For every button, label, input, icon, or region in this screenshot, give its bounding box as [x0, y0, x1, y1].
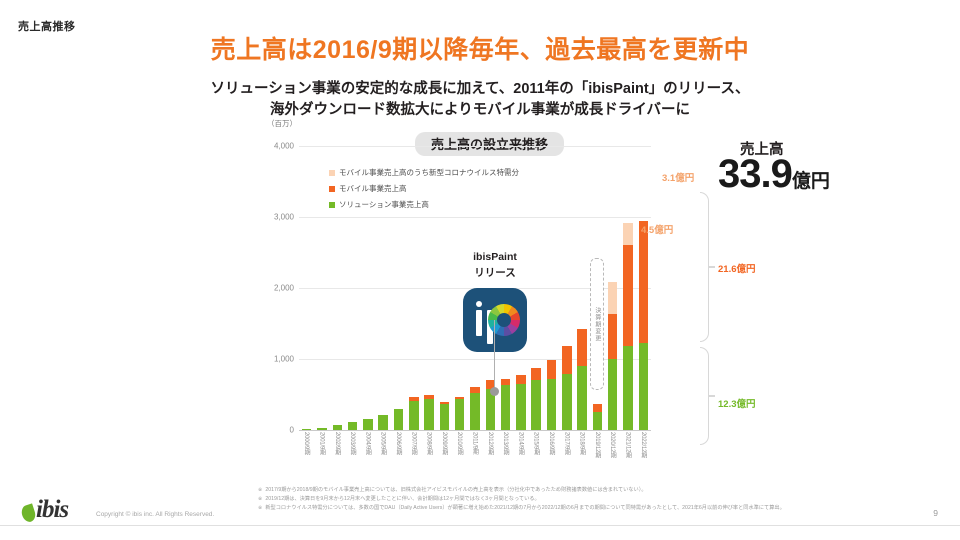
callout-solution-total: 12.3億円: [718, 396, 756, 410]
ibispaint-color-wheel-icon: [488, 304, 520, 336]
y-axis-tick-label: 4,000: [274, 142, 294, 151]
ibispaint-label-line-2: リリース: [443, 266, 547, 282]
bar-segment-mobile: [593, 404, 602, 412]
fiscal-period-change-note: 決算期変更: [590, 258, 604, 390]
bar-column[interactable]: [562, 346, 571, 430]
ibispaint-callout: ibisPaint リリース: [443, 250, 547, 352]
x-axis-tick-label: 2013/9期: [501, 432, 510, 455]
y-axis-tick-label: 1,000: [274, 355, 294, 364]
axis-baseline: [299, 430, 651, 431]
footnote-text: 2019/12期は、決算日を9月末から12月末へ変更したことに伴い、会計期間は1…: [265, 495, 958, 503]
ibis-logo: ibis: [22, 498, 68, 522]
bar-column[interactable]: [455, 397, 464, 430]
bar-segment-mobile: [639, 221, 648, 342]
bar-column[interactable]: [516, 375, 525, 430]
bar-column[interactable]: [639, 221, 648, 430]
footnotes: ※ 2017/9期から2018/9期のモバイル事業売上高については、旧株式会社ア…: [258, 486, 958, 513]
x-axis-tick-label: 2007/9期: [409, 432, 418, 455]
bar-column[interactable]: [317, 428, 326, 430]
bar-column[interactable]: [577, 329, 586, 430]
bar-segment-mobile: [547, 360, 556, 378]
y-axis-unit-label: （百万）: [267, 118, 297, 129]
slide-sub-title: ソリューション事業の安定的な成長に加えて、2011年の「ibisPaint」のリ…: [0, 79, 960, 121]
bar-column[interactable]: [593, 404, 602, 430]
x-axis-tick-label: 2002/9期: [333, 432, 342, 455]
footnote-mark: ※: [258, 486, 262, 494]
footnote-item: ※ 2017/9期から2018/9期のモバイル事業売上高については、旧株式会社ア…: [258, 486, 958, 494]
x-axis-tick-label: 2005/9期: [379, 432, 388, 455]
bar-column[interactable]: [348, 422, 357, 430]
x-axis-tick-label: 2012/9期: [486, 432, 495, 455]
x-axis-tick-label: 2014/9期: [516, 432, 525, 455]
bar-segment-solution: [455, 399, 464, 430]
bar-column[interactable]: [409, 397, 418, 430]
footnote-mark: ※: [258, 504, 262, 512]
x-axis-tick-label: 2018/9期: [578, 432, 587, 455]
bar-segment-solution: [531, 380, 540, 430]
x-axis-tick-label: 2010/9期: [455, 432, 464, 455]
bar-segment-mobile: [623, 245, 632, 347]
bar-segment-solution: [516, 384, 525, 430]
footnote-mark: ※: [258, 495, 262, 503]
ibispaint-i-dot-icon: [476, 301, 482, 307]
bar-segment-solution: [639, 343, 648, 430]
bar-segment-solution: [623, 346, 632, 430]
y-axis-tick-label: 2,000: [274, 284, 294, 293]
logo-wordmark: ibis: [36, 498, 68, 522]
ibispaint-leader-dot-icon: [490, 387, 499, 396]
x-axis-tick-label: 2019/12期: [593, 432, 602, 458]
bar-segment-solution: [302, 429, 311, 430]
bar-segment-solution: [547, 379, 556, 430]
bar-segment-covid: [608, 282, 617, 314]
x-axis-tick-label: 2022/12期: [639, 432, 648, 458]
footnote-item: ※ 新型コロナウイルス特需分については、多数の国でDAU（Daily Activ…: [258, 504, 958, 512]
y-axis: 01,0002,0003,0004,000: [255, 146, 297, 430]
bar-column[interactable]: [302, 429, 311, 430]
bar-segment-solution: [333, 425, 342, 430]
x-axis-tick-label: 2004/9期: [363, 432, 372, 455]
sub-title-line-1: ソリューション事業の安定的な成長に加えて、2011年の「ibisPaint」のリ…: [0, 79, 960, 100]
bar-segment-solution: [577, 366, 586, 430]
bar-column[interactable]: [394, 409, 403, 430]
x-axis-tick-label: 2011/9期: [471, 432, 480, 455]
brace-solution-tick: [708, 395, 715, 397]
bar-column[interactable]: [363, 419, 372, 430]
bar-segment-solution: [440, 404, 449, 430]
x-axis-tick-label: 2003/9期: [348, 432, 357, 455]
y-axis-tick-label: 3,000: [274, 213, 294, 222]
bar-segment-solution: [424, 399, 433, 430]
bar-segment-solution: [348, 422, 357, 430]
x-axis-labels: 2000/9期2001/9期2002/9期2003/9期2004/9期2005/…: [299, 432, 651, 480]
bar-column[interactable]: [424, 395, 433, 430]
highlight-value-unit: 億円: [792, 171, 830, 192]
x-axis-tick-label: 2006/9期: [394, 432, 403, 455]
bar-segment-covid: [623, 223, 632, 245]
bar-segment-solution: [317, 428, 326, 430]
bar-column[interactable]: [333, 425, 342, 430]
footer-divider: [0, 525, 960, 526]
x-axis-tick-label: 2021/12期: [624, 432, 633, 458]
callout-covid-2021: 3.1億円: [662, 170, 694, 184]
bar-column[interactable]: [608, 282, 617, 430]
copyright-text: Copyright © ibis inc. All Rights Reserve…: [96, 511, 214, 518]
x-axis-tick-label: 2016/9期: [547, 432, 556, 455]
x-axis-tick-label: 2000/9期: [302, 432, 311, 455]
highlight-value: 33.9億円: [718, 152, 830, 197]
footnote-text: 2017/9期から2018/9期のモバイル事業売上高については、旧株式会社アイビ…: [265, 486, 958, 494]
x-axis-tick-label: 2020/12期: [608, 432, 617, 458]
bar-segment-mobile: [577, 329, 586, 366]
x-axis-tick-label: 2009/9期: [440, 432, 449, 455]
slide-main-title: 売上高は2016/9期以降毎年、過去最高を更新中: [0, 30, 960, 66]
bar-segment-solution: [501, 385, 510, 430]
footnote-text: 新型コロナウイルス特需分については、多数の国でDAU（Daily Active …: [265, 504, 958, 512]
bar-segment-solution: [593, 412, 602, 430]
bar-segment-solution: [378, 415, 387, 430]
callout-mobile-total: 21.6億円: [718, 261, 756, 275]
bar-segment-solution: [608, 359, 617, 430]
brace-mobile-tick: [708, 266, 715, 268]
bar-column[interactable]: [547, 360, 556, 430]
page-number: 9: [933, 508, 938, 518]
y-axis-tick-label: 0: [290, 426, 294, 435]
ibispaint-i-stem-icon: [476, 310, 482, 336]
x-axis-tick-label: 2008/9期: [425, 432, 434, 455]
footnote-item: ※ 2019/12期は、決算日を9月末から12月末へ変更したことに伴い、会計期間…: [258, 495, 958, 503]
bar-segment-mobile: [608, 314, 617, 359]
slide-canvas: 売上高推移 売上高は2016/9期以降毎年、過去最高を更新中 ソリューション事業…: [0, 0, 960, 540]
leaf-icon: [20, 503, 38, 523]
bar-segment-mobile: [562, 346, 571, 374]
ibispaint-label-line-1: ibisPaint: [443, 250, 547, 266]
bar-segment-solution: [470, 393, 479, 430]
bar-column[interactable]: [440, 402, 449, 430]
bar-segment-mobile: [516, 375, 525, 384]
bar-segment-solution: [363, 419, 372, 430]
bar-segment-solution: [562, 374, 571, 430]
bar-segment-solution: [394, 409, 403, 430]
callout-covid-2020: 4.5億円: [641, 222, 673, 236]
bar-segment-solution: [409, 401, 418, 430]
x-axis-tick-label: 2017/9期: [562, 432, 571, 455]
bar-column[interactable]: [501, 379, 510, 430]
x-axis-tick-label: 2015/9期: [532, 432, 541, 455]
highlight-value-number: 33.9: [718, 152, 792, 196]
bar-column[interactable]: [378, 415, 387, 430]
bar-column[interactable]: [531, 368, 540, 430]
bar-segment-mobile: [531, 368, 540, 381]
bar-column[interactable]: [470, 387, 479, 430]
ibispaint-leader-line: [494, 320, 495, 390]
x-axis-tick-label: 2001/9期: [317, 432, 326, 455]
bar-column[interactable]: [623, 223, 632, 430]
